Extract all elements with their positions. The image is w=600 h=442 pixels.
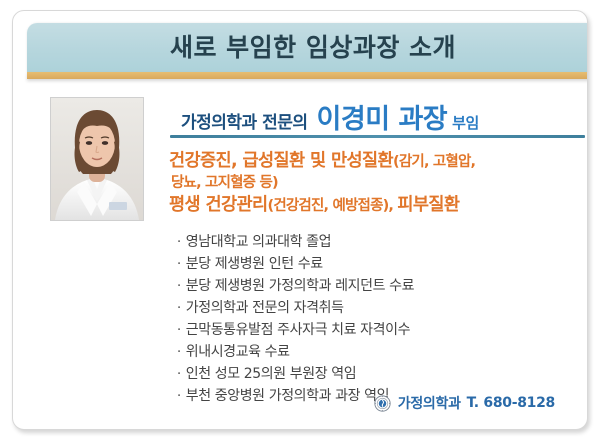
- doctor-name-label: 이경미 과장: [317, 97, 448, 136]
- list-item: · 영남대학교 의과대학 졸업: [177, 235, 577, 257]
- list-item-label: 가정의학과 전문의 자격취득: [186, 301, 344, 315]
- slide-root: 새로 부임한 임상과장 소개: [0, 0, 600, 442]
- specialty-line-3-normal: (건강검진, 예방접종),: [268, 198, 398, 214]
- bullet-dot-icon: ·: [177, 236, 181, 249]
- specialty-line-3-strong-b: 피부질환: [397, 195, 459, 215]
- bullet-dot-icon: ·: [177, 258, 181, 271]
- list-item: · 위내시경교육 수료: [177, 345, 577, 367]
- appointment-suffix: 부임: [452, 112, 479, 133]
- list-item-label: 근막동통유발점 주사자극 치료 자격이수: [186, 323, 410, 337]
- footer-phone-label: T. 680-8128: [467, 395, 555, 411]
- specialty-line-2-normal: 당뇨, 고지혈증 등): [171, 175, 278, 191]
- list-item-label: 부천 중앙병원 가정의학과 과장 역임: [186, 389, 389, 403]
- slide-card: 새로 부임한 임상과장 소개: [12, 10, 588, 430]
- specialty-line-2: 당뇨, 고지혈증 등): [171, 172, 588, 193]
- list-item-label: 인천 성모 25의원 부원장 역임: [186, 367, 357, 381]
- name-divider: [170, 135, 585, 138]
- list-item: · 분당 제생병원 가정의학과 레지던트 수료: [177, 279, 577, 301]
- list-item: · 가정의학과 전문의 자격취득: [177, 301, 577, 323]
- bullet-dot-icon: ·: [177, 280, 181, 293]
- footer-department-label: 가정의학과: [398, 393, 461, 413]
- page-title: 새로 부임한 임상과장 소개: [170, 35, 456, 60]
- header-banner: 새로 부임한 임상과장 소개: [27, 23, 588, 72]
- bullet-dot-icon: ·: [177, 302, 181, 315]
- specialty-line-3-strong-a: 평생 건강관리: [169, 195, 268, 215]
- bullet-dot-icon: ·: [177, 390, 181, 403]
- list-item: · 근막동통유발점 주사자극 치료 자격이수: [177, 323, 577, 345]
- doctor-portrait-icon: [51, 98, 143, 220]
- list-item-label: 위내시경교육 수료: [186, 345, 290, 359]
- list-item-label: 영남대학교 의과대학 졸업: [186, 235, 331, 249]
- list-item: · 분당 제생병원 인턴 수료: [177, 257, 577, 279]
- specialty-block: 건강증진, 급성질환 및 만성질환(감기, 고혈압, 당뇨, 고지혈증 등) 평…: [169, 151, 588, 216]
- doctor-name-row: 가정의학과 전문의 이경미 과장 부임: [181, 97, 581, 129]
- specialty-line-1: 건강증진, 급성질환 및 만성질환(감기, 고혈압,: [169, 151, 588, 172]
- specialty-line-3: 평생 건강관리(건강검진, 예방접종), 피부질환: [169, 195, 588, 216]
- list-item: · 인천 성모 25의원 부원장 역임: [177, 367, 577, 389]
- specialty-line-1-normal: (감기, 고혈압,: [393, 154, 475, 170]
- footer-contact: 가정의학과 T. 680-8128: [374, 393, 555, 413]
- credentials-list: · 영남대학교 의과대학 졸업 · 분당 제생병원 인턴 수료 · 분당 제생병…: [177, 235, 577, 411]
- bullet-dot-icon: ·: [177, 324, 181, 337]
- specialty-prefix: 가정의학과 전문의: [181, 108, 308, 133]
- doctor-photo: [50, 97, 144, 221]
- bullet-dot-icon: ·: [177, 346, 181, 359]
- list-item-label: 분당 제생병원 인턴 수료: [186, 257, 323, 271]
- header-gold-strip: [27, 72, 588, 79]
- list-item-label: 분당 제생병원 가정의학과 레지던트 수료: [186, 279, 414, 293]
- hospital-seal-icon: [374, 395, 391, 412]
- specialty-line-1-strong: 건강증진, 급성질환 및 만성질환: [169, 151, 393, 171]
- bullet-dot-icon: ·: [177, 368, 181, 381]
